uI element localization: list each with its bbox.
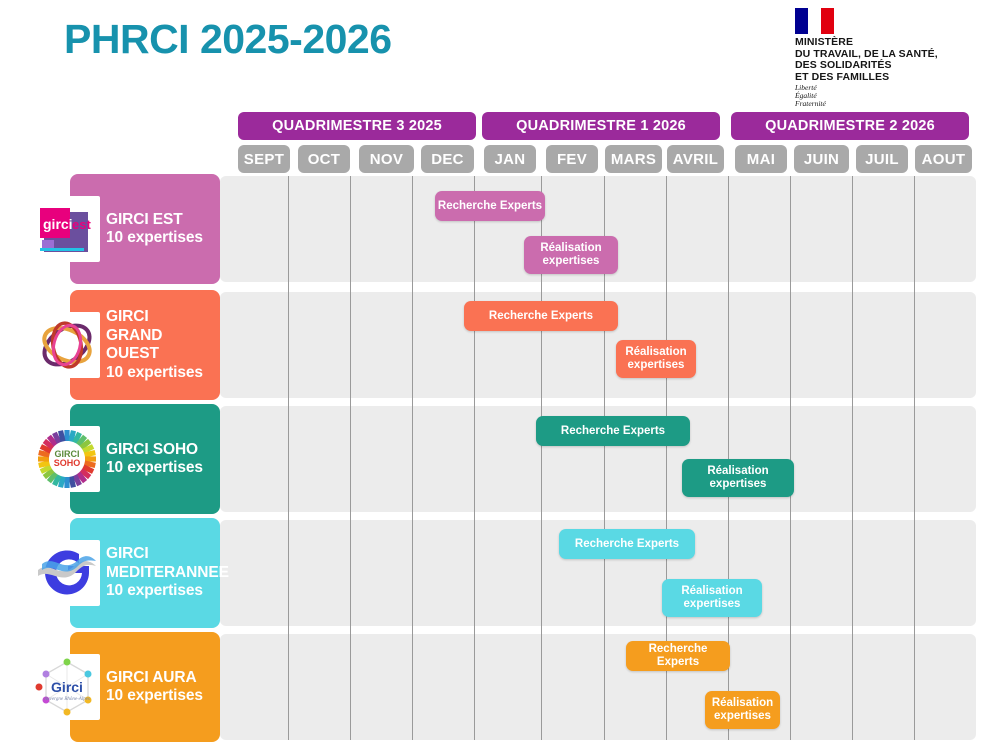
row-label-text: GIRCI EST10 expertises: [106, 211, 218, 248]
task-bar[interactable]: Recherche Experts: [435, 191, 545, 221]
svg-text:Auvergne Rhône-Alpes: Auvergne Rhône-Alpes: [43, 697, 90, 702]
month-header-label: MAI: [747, 151, 775, 168]
month-header-label: DEC: [431, 151, 464, 168]
month-header-label: SEPT: [244, 151, 284, 168]
task-bar[interactable]: Réalisationexpertises: [662, 579, 762, 617]
task-bar-label-line: Recherche Experts: [489, 310, 593, 323]
month-header-fev[interactable]: FEV: [546, 145, 598, 173]
svg-text:girci: girci: [43, 216, 73, 232]
month-header-juin[interactable]: JUIN: [794, 145, 849, 173]
task-bar-label: Réalisationexpertises: [707, 465, 768, 491]
month-header-avril[interactable]: AVRIL: [667, 145, 724, 173]
task-bar-label: Recherche Experts: [438, 200, 542, 213]
ministry-logo: MINISTÈREDU TRAVAIL, DE LA SANTÉ,DES SOL…: [790, 6, 990, 98]
task-bar-label: Recherche Experts: [575, 538, 679, 551]
timeline-gridline: [914, 176, 915, 740]
month-header-label: NOV: [370, 151, 403, 168]
month-header-label: JUIL: [865, 151, 899, 168]
month-header-aout[interactable]: AOUT: [915, 145, 972, 173]
month-header-jan[interactable]: JAN: [484, 145, 536, 173]
task-bar-label: Réalisationexpertises: [681, 585, 742, 611]
month-header-mars[interactable]: MARS: [605, 145, 662, 173]
task-bar-label: Recherche Experts: [489, 310, 593, 323]
task-bar-label-line: Recherche Experts: [575, 538, 679, 551]
month-header-label: AOUT: [922, 151, 966, 168]
task-bar-label-line: Réalisation: [712, 697, 773, 710]
row-label-line: GIRCI SOHO: [106, 441, 218, 460]
task-bar-label: Recherche Experts: [561, 425, 665, 438]
task-bar-label: Réalisationexpertises: [712, 697, 773, 723]
row-label-line: 10 expertises: [106, 364, 218, 383]
timeline-row-band: [220, 634, 976, 740]
row-label-text: GIRCI AURA10 expertises: [106, 669, 218, 706]
task-bar[interactable]: Réalisationexpertises: [524, 236, 618, 274]
girci-mediterannee-logo: [34, 540, 100, 606]
month-header-oct[interactable]: OCT: [298, 145, 350, 173]
timeline-gridline: [288, 176, 289, 740]
row-label-text: GIRCIMEDITERANNEE10 expertises: [106, 545, 218, 601]
row-label-line: 10 expertises: [106, 229, 218, 248]
task-bar-label: Recherche Experts: [626, 643, 730, 669]
timeline-gridline: [350, 176, 351, 740]
task-bar-label-line: expertises: [712, 710, 773, 723]
month-header-dec[interactable]: DEC: [421, 145, 474, 173]
row-label-text: GIRCI SOHO10 expertises: [106, 441, 218, 478]
month-header-label: JUIN: [804, 151, 839, 168]
svg-text:Girci: Girci: [51, 679, 83, 695]
task-bar-label-line: expertises: [707, 478, 768, 491]
task-bar[interactable]: Recherche Experts: [464, 301, 618, 331]
quarter-header-label: QUADRIMESTRE 3 2025: [272, 118, 442, 134]
row-label-line: GIRCI: [106, 308, 218, 327]
quarter-header-label: QUADRIMESTRE 2 2026: [765, 118, 935, 134]
page-title: PHRCI 2025-2026: [64, 16, 392, 63]
row-label-line: MEDITERANNEE: [106, 564, 218, 583]
month-header-nov[interactable]: NOV: [359, 145, 414, 173]
timeline-gridline: [790, 176, 791, 740]
task-bar-label: Réalisationexpertises: [540, 242, 601, 268]
quarter-header-label: QUADRIMESTRE 1 2026: [516, 118, 686, 134]
girci-soho-logo: GIRCI SOHO: [34, 426, 100, 492]
task-bar[interactable]: Réalisationexpertises: [616, 340, 696, 378]
month-header-label: MARS: [611, 151, 656, 168]
row-label-line: GRAND OUEST: [106, 327, 218, 364]
task-bar-label-line: Recherche Experts: [438, 200, 542, 213]
task-bar[interactable]: Réalisationexpertises: [705, 691, 780, 729]
row-label-line: 10 expertises: [106, 459, 218, 478]
timeline-gridline: [412, 176, 413, 740]
ministry-name-line: MINISTÈRE: [795, 37, 990, 49]
page-header: PHRCI 2025-2026 MINISTÈREDU TRAVAIL, DE …: [0, 0, 1004, 104]
task-bar[interactable]: Recherche Experts: [626, 641, 730, 671]
svg-text:est: est: [72, 217, 91, 232]
girci-est-logo: girci est: [34, 196, 100, 262]
row-label-line: 10 expertises: [106, 582, 218, 601]
task-bar[interactable]: Recherche Experts: [536, 416, 690, 446]
quarter-header-2[interactable]: QUADRIMESTRE 1 2026: [482, 112, 720, 140]
month-header-juil[interactable]: JUIL: [856, 145, 908, 173]
timeline-gridline: [852, 176, 853, 740]
month-header-sept[interactable]: SEPT: [238, 145, 290, 173]
task-bar[interactable]: Réalisationexpertises: [682, 459, 794, 497]
task-bar-label-line: Réalisation: [681, 585, 742, 598]
timeline-chart: QUADRIMESTRE 3 2025QUADRIMESTRE 1 2026QU…: [0, 104, 1004, 755]
girci-grand-ouest-logo: [34, 312, 100, 378]
month-header-label: JAN: [495, 151, 526, 168]
task-bar-label-line: expertises: [540, 255, 601, 268]
task-bar-label-line: Réalisation: [540, 242, 601, 255]
quarter-header-3[interactable]: QUADRIMESTRE 2 2026: [731, 112, 969, 140]
month-header-mai[interactable]: MAI: [735, 145, 787, 173]
row-label-line: GIRCI EST: [106, 211, 218, 230]
french-flag-icon: [795, 8, 834, 34]
row-label-line: GIRCI AURA: [106, 669, 218, 688]
svg-text:SOHO: SOHO: [54, 458, 81, 468]
ministry-name: MINISTÈREDU TRAVAIL, DE LA SANTÉ,DES SOL…: [795, 37, 990, 83]
task-bar-label-line: Recherche Experts: [626, 643, 730, 669]
month-header-label: OCT: [308, 151, 341, 168]
task-bar-label-line: Recherche Experts: [561, 425, 665, 438]
task-bar-label-line: Réalisation: [625, 346, 686, 359]
task-bar-label-line: expertises: [681, 598, 742, 611]
ministry-name-line: ET DES FAMILLES: [795, 72, 990, 84]
month-header-label: AVRIL: [673, 151, 718, 168]
row-label-line: 10 expertises: [106, 687, 218, 706]
task-bar-label-line: expertises: [625, 359, 686, 372]
row-label-text: GIRCIGRAND OUEST10 expertises: [106, 308, 218, 382]
month-header-label: FEV: [557, 151, 587, 168]
quarter-header-1[interactable]: QUADRIMESTRE 3 2025: [238, 112, 476, 140]
task-bar[interactable]: Recherche Experts: [559, 529, 695, 559]
timeline-gridline: [474, 176, 475, 740]
task-bar-label-line: Réalisation: [707, 465, 768, 478]
row-label-line: GIRCI: [106, 545, 218, 564]
task-bar-label: Réalisationexpertises: [625, 346, 686, 372]
girci-aura-logo: Girci Auvergne Rhône-Alpes: [34, 654, 100, 720]
